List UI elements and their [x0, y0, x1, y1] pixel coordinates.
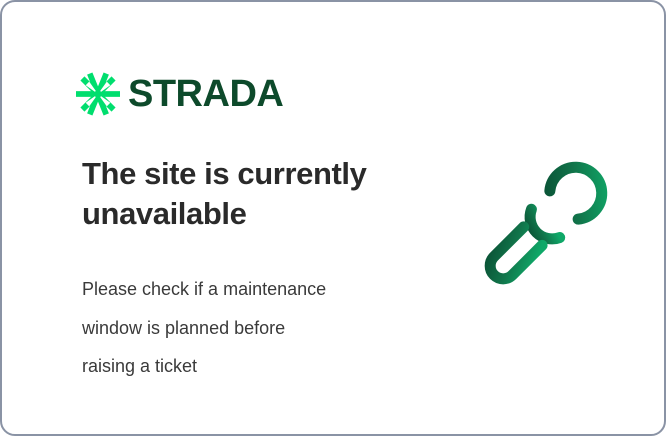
page-title: The site is currently unavailable	[82, 154, 412, 233]
strada-asterisk-icon	[76, 72, 120, 116]
description-line: window is planned before	[82, 309, 392, 348]
status-card: STRADA The site is currently unavailable…	[0, 0, 666, 436]
description-line: Please check if a maintenance	[82, 270, 392, 309]
brand-wordmark: STRADA	[128, 75, 283, 113]
wrench-icon	[460, 159, 610, 309]
description-line: raising a ticket	[82, 347, 392, 386]
page-description: Please check if a maintenance window is …	[82, 270, 392, 386]
brand-lockup: STRADA	[76, 70, 283, 118]
